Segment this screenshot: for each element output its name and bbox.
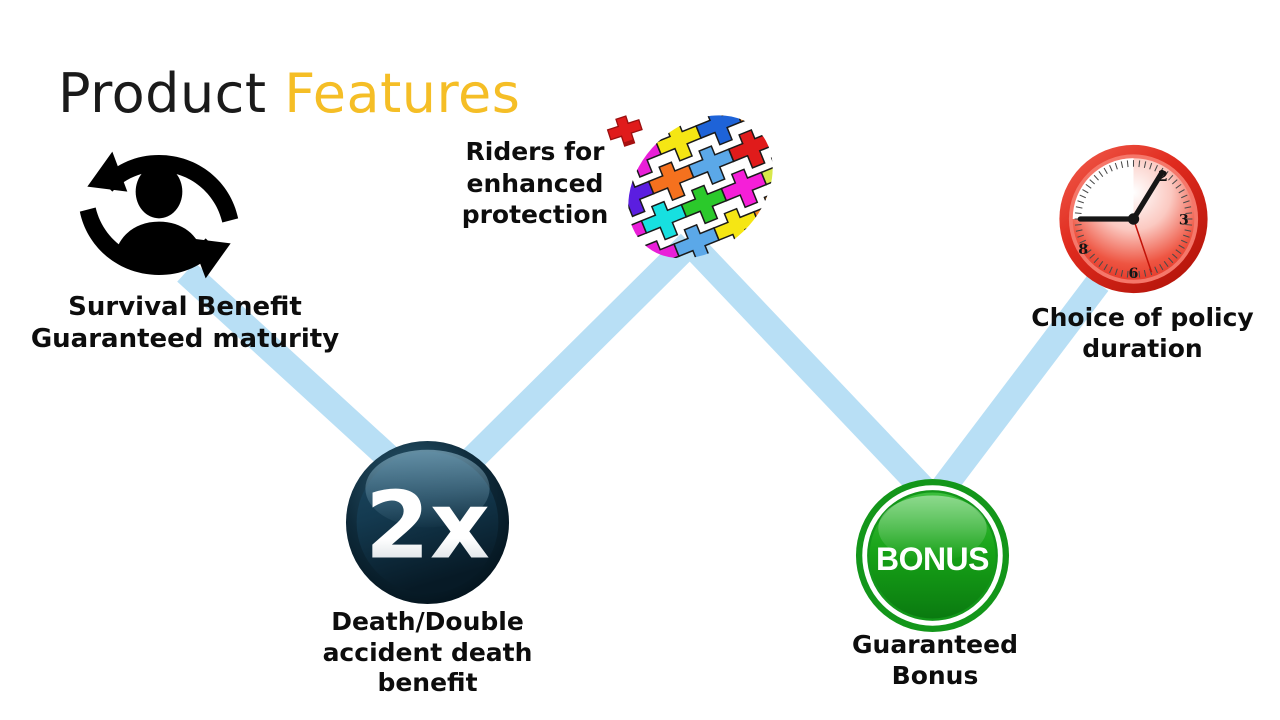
clock-numeral-3: 3 bbox=[1179, 213, 1189, 229]
feature-icon-riders bbox=[598, 110, 788, 260]
feature-icon-guaranteed-bonus: BONUS bbox=[855, 478, 1010, 633]
feature-icon-double-benefit: 2x bbox=[345, 440, 510, 605]
connector-segment-riders-to-bonus bbox=[690, 243, 934, 500]
person-cycle-arrows-icon bbox=[74, 140, 244, 290]
feature-icon-policy-duration: 2 3 6 8 bbox=[1056, 143, 1211, 295]
feature-caption-guaranteed-bonus: Guaranteed Bonus bbox=[830, 630, 1040, 691]
feature-caption-double-benefit: Death/Double accident death benefit bbox=[295, 607, 560, 699]
clock-numeral-8: 8 bbox=[1078, 242, 1088, 258]
feature-icon-survival-benefit bbox=[74, 140, 244, 290]
two-x-badge-label: 2x bbox=[365, 471, 490, 579]
clock-numeral-6: 6 bbox=[1129, 266, 1139, 282]
page-title-primary: Product bbox=[58, 62, 267, 125]
feature-caption-survival-benefit: Survival Benefit Guaranteed maturity bbox=[0, 292, 375, 355]
page-title: Product Features bbox=[58, 62, 520, 125]
two-x-badge-icon: 2x bbox=[345, 440, 510, 605]
feature-caption-policy-duration: Choice of policy duration bbox=[1015, 303, 1270, 364]
jigsaw-puzzle-icon bbox=[598, 110, 788, 260]
bonus-badge-icon: BONUS bbox=[855, 478, 1010, 633]
product-features-slide: Product Features Survival Benef bbox=[0, 0, 1280, 720]
clock-icon: 2 3 6 8 bbox=[1056, 143, 1211, 295]
bonus-badge-label: BONUS bbox=[876, 541, 989, 577]
feature-caption-riders: Riders for enhanced protection bbox=[455, 136, 615, 231]
page-title-accent: Features bbox=[284, 62, 520, 125]
